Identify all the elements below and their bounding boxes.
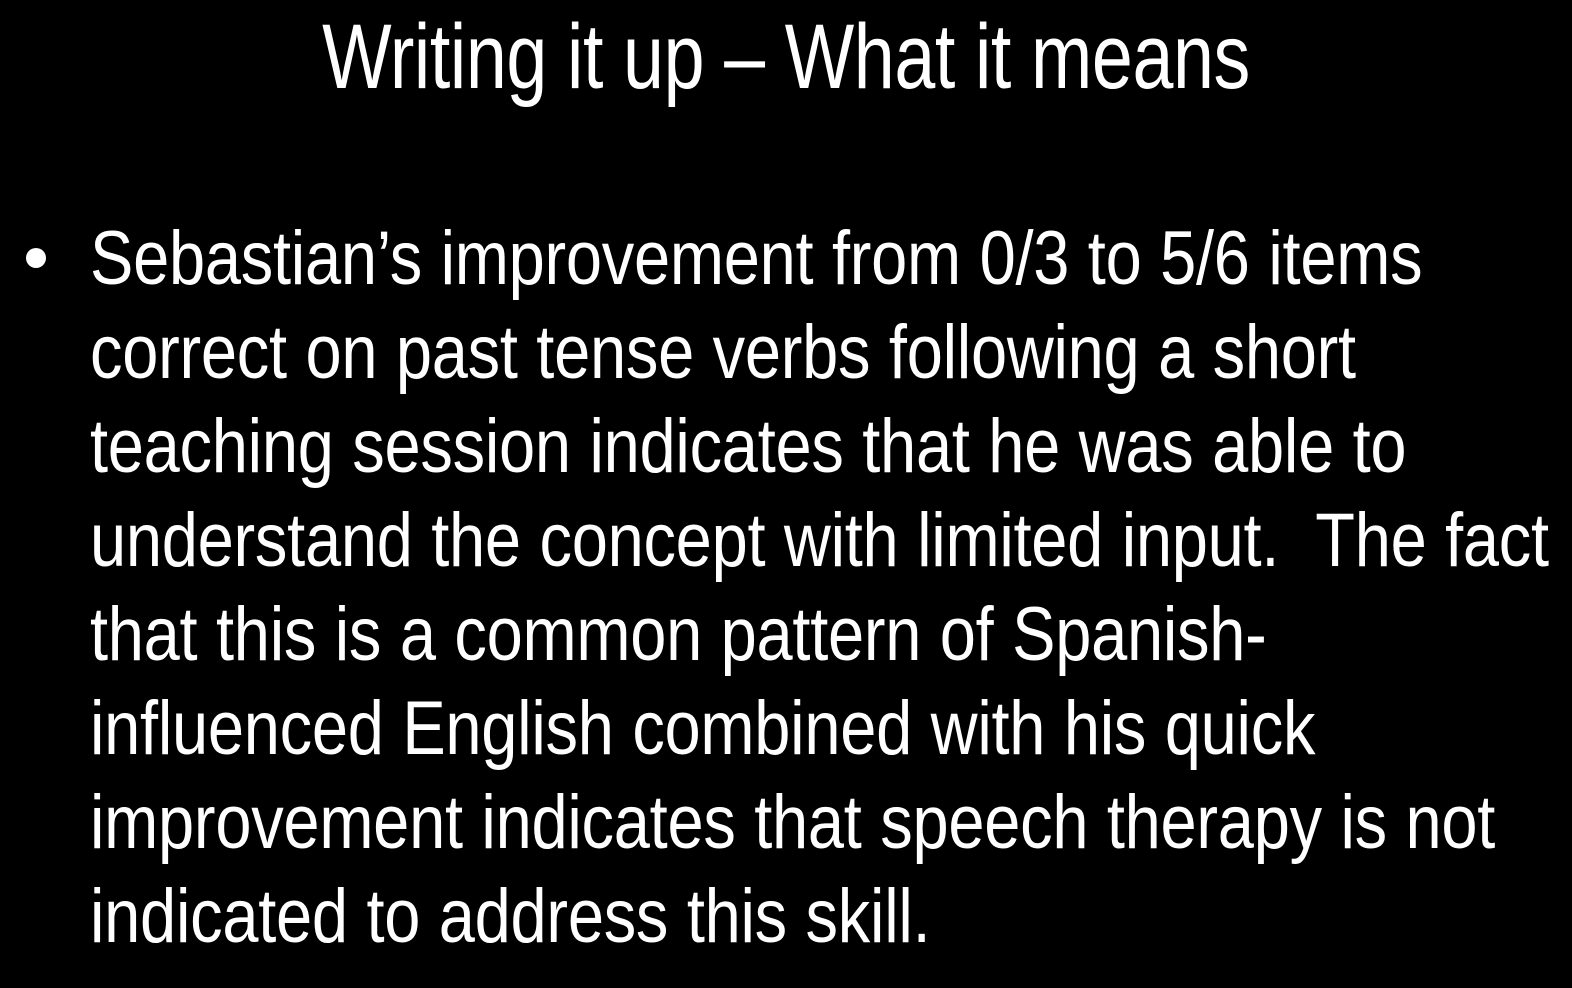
list-item-label: Sebastian’s improvement from 0/3 to 5/6 …	[90, 212, 1554, 964]
slide-body: Sebastian’s improvement from 0/3 to 5/6 …	[18, 212, 1558, 964]
bullet-dot-icon	[26, 248, 46, 268]
page-title: Writing it up – What it means	[157, 6, 1415, 109]
list-item: Sebastian’s improvement from 0/3 to 5/6 …	[18, 212, 1558, 964]
presentation-slide: Writing it up – What it means Sebastian’…	[0, 0, 1572, 988]
